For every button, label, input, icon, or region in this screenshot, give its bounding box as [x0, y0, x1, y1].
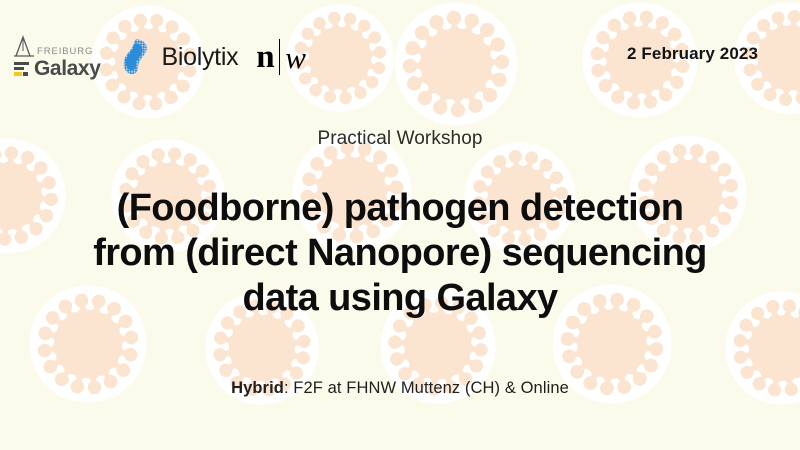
fhnw-letter-w: w: [285, 42, 306, 73]
event-date: 2 February 2023: [627, 44, 758, 64]
title-line-3: data using Galaxy: [0, 276, 800, 321]
venue-format-emphasis: Hybrid: [231, 379, 284, 397]
galaxy-freiburg-logo[interactable]: FREIBURG Galaxy: [14, 35, 101, 79]
workshop-title-slide: FREIBURG Galaxy: [0, 0, 800, 450]
biolytix-wordmark: Biolytix: [162, 43, 239, 72]
galaxy-wordmark: Galaxy: [34, 58, 101, 79]
title-line-1: (Foodborne) pathogen detection: [0, 186, 800, 231]
workshop-kicker: Practical Workshop: [0, 128, 800, 150]
biolytix-logo[interactable]: Biolytix: [119, 38, 239, 76]
venue-subtitle: Hybrid: F2F at FHNW Muttenz (CH) & Onlin…: [0, 379, 800, 398]
fhnw-divider-bar: [279, 39, 281, 75]
mountain-peak-icon: [14, 35, 34, 57]
page-title: (Foodborne) pathogen detection from (dir…: [0, 186, 800, 322]
fhnw-letter-n: n: [256, 41, 273, 74]
logo-group: FREIBURG Galaxy: [0, 35, 306, 79]
galaxy-bars-icon: [14, 59, 31, 78]
slide-content: FREIBURG Galaxy: [0, 0, 800, 450]
fhnw-logo[interactable]: n w: [256, 39, 306, 75]
venue-detail: : F2F at FHNW Muttenz (CH) & Online: [284, 379, 569, 397]
galaxy-freiburg-label: FREIBURG: [37, 47, 93, 58]
biolytix-bean-icon: [119, 38, 153, 76]
title-line-2: from (direct Nanopore) sequencing: [0, 231, 800, 276]
